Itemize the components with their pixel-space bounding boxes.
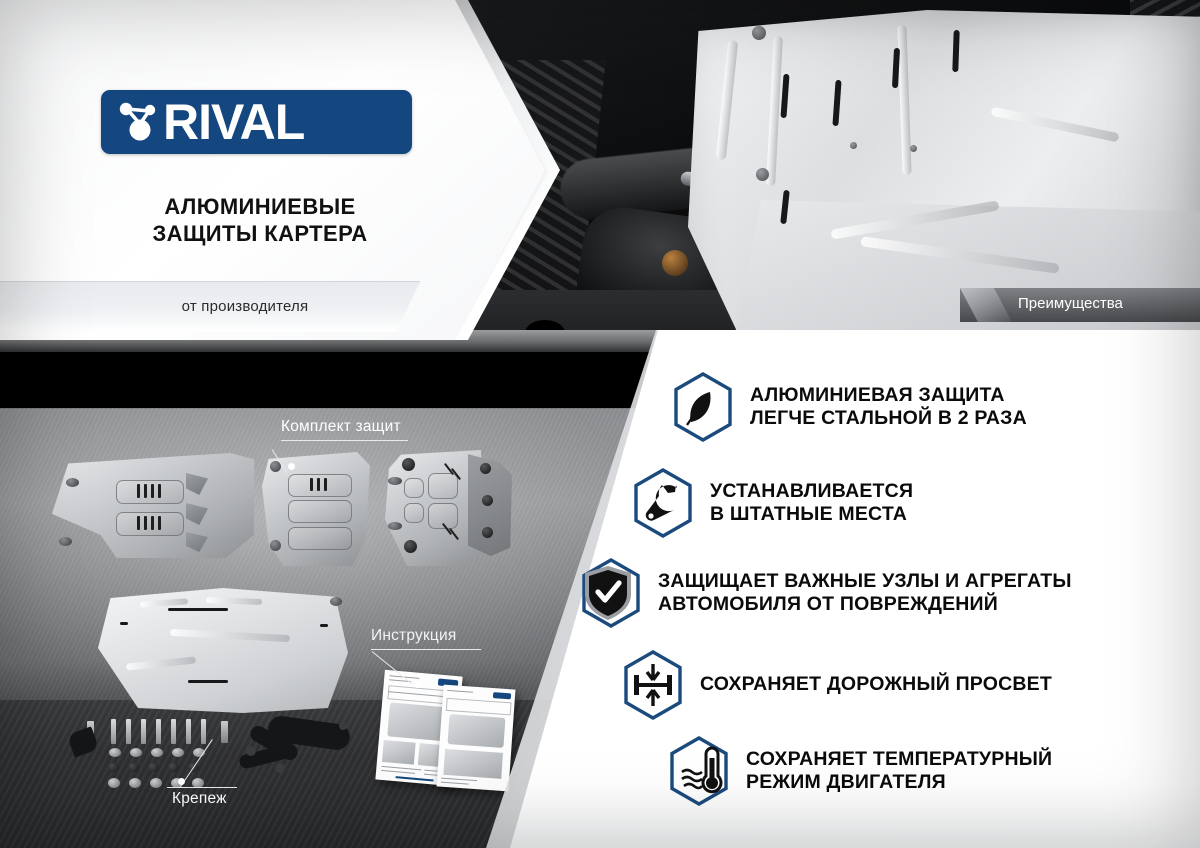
washer: [151, 748, 163, 757]
mount-hole: [66, 478, 79, 487]
callout-underline: [371, 649, 481, 650]
plate-pad: [288, 474, 352, 497]
molecule-icon: [115, 98, 163, 146]
feature-item-protects-components[interactable]: ЗАЩИЩАЕТ ВАЖНЫЕ УЗЛЫ И АГРЕГАТЫ АВТОМОБИ…: [580, 558, 1072, 628]
feature-label: СОХРАНЯЕТ ТЕМПЕРАТУРНЫЙ РЕЖИМ ДВИГАТЕЛЯ: [746, 748, 1052, 795]
plate-slot: [317, 478, 320, 491]
wrench-icon: [632, 468, 694, 538]
manual-photo: [443, 749, 503, 779]
washer: [172, 748, 184, 757]
callout-underline: [167, 787, 237, 788]
flange-hole: [482, 495, 493, 506]
bolt: [141, 719, 146, 744]
feature-item-engine-temperature[interactable]: СОХРАНЯЕТ ТЕМПЕРАТУРНЫЙ РЕЖИМ ДВИГАТЕЛЯ: [668, 736, 1052, 806]
feature-icon-wrap: [672, 372, 734, 442]
plate-pad: [116, 480, 184, 504]
mount-hole: [402, 458, 415, 471]
plate-pad: [288, 500, 352, 523]
plate-slot: [158, 516, 161, 530]
advantages-tab-label: Преимущества: [1018, 295, 1123, 312]
callout-manual-label: Инструкция: [371, 627, 456, 645]
plate-pad: [288, 527, 352, 550]
plate-body: [98, 588, 348, 713]
callout-kit-label: Комплект защит: [281, 418, 401, 436]
callout-dot: [288, 463, 295, 470]
header-panel: RIVAL АЛЮМИНИЕВЫЕ ЗАЩИТЫ КАРТЕРА от прои…: [0, 0, 600, 356]
black-band: [0, 352, 660, 408]
feature-label: СОХРАНЯЕТ ДОРОЖНЫЙ ПРОСВЕТ: [700, 673, 1052, 697]
manual-table: [446, 698, 512, 716]
nut: [168, 763, 179, 772]
bracket-hole: [339, 722, 347, 730]
page-subtitle: от производителя: [95, 298, 395, 315]
nut: [148, 763, 159, 772]
promo-banner: Преимущества RIVAL АЛЮМИНИЕВЫЕ ЗАЩИТЫ КА…: [0, 0, 1200, 848]
manual-footer: [396, 776, 434, 781]
shield-check-icon: [580, 558, 642, 628]
manual-page-back: [437, 685, 516, 792]
plate-slot: [324, 478, 327, 491]
flange-hole: [480, 463, 491, 474]
nut: [128, 763, 139, 772]
plate-slot: [158, 484, 161, 498]
washer: [129, 778, 141, 788]
feature-item-factory-mounts[interactable]: УСТАНАВЛИВАЕТСЯ В ШТАТНЫЕ МЕСТА: [632, 468, 913, 538]
plate-bolt: [752, 26, 766, 40]
thermometer-icon: [668, 736, 730, 806]
mount-hole: [330, 597, 342, 606]
feature-label: ЗАЩИЩАЕТ ВАЖНЫЕ УЗЛЫ И АГРЕГАТЫ АВТОМОБИ…: [658, 570, 1072, 617]
mount-hole: [270, 540, 281, 551]
washer: [108, 778, 120, 788]
plate-slot: [188, 680, 228, 683]
plate-slot: [168, 608, 228, 611]
bolt: [201, 719, 206, 744]
bracket-hole: [246, 746, 256, 756]
rival-logo[interactable]: RIVAL: [101, 90, 412, 154]
manual-diagram: [448, 714, 506, 748]
feature-label: АЛЮМИНИЕВАЯ ЗАЩИТА ЛЕГЧЕ СТАЛЬНОЙ В 2 РА…: [750, 384, 1027, 431]
ball-joint: [662, 250, 688, 276]
mount-hole: [388, 477, 402, 485]
feature-icon-wrap: [632, 468, 694, 538]
callout-dot: [178, 778, 185, 785]
rival-logo-text: RIVAL: [163, 95, 304, 149]
plate-slot: [151, 484, 154, 498]
plate-pad: [428, 473, 458, 499]
plate-bolt: [850, 142, 857, 149]
bolt: [126, 719, 131, 744]
plate-slot: [144, 516, 147, 530]
bracket-strip: [221, 721, 228, 743]
manual-logo: [493, 692, 511, 699]
mount-hole: [388, 522, 402, 530]
page-title-line1: АЛЮМИНИЕВЫЕ: [95, 193, 425, 220]
plate-slot: [310, 478, 313, 491]
mount-hole: [59, 537, 72, 546]
washer: [130, 748, 142, 757]
callout-underline: [281, 440, 408, 441]
page-title-line2: ЗАЩИТЫ КАРТЕРА: [95, 220, 425, 247]
plate-bolt: [756, 168, 769, 181]
bolt: [186, 719, 191, 744]
feature-item-aluminium-weight[interactable]: АЛЮМИНИЕВАЯ ЗАЩИТА ЛЕГЧЕ СТАЛЬНОЙ В 2 РА…: [672, 372, 1027, 442]
plate-pad: [404, 478, 424, 498]
feature-item-ground-clearance[interactable]: СОХРАНЯЕТ ДОРОЖНЫЙ ПРОСВЕТ: [622, 650, 1052, 720]
bolt: [156, 719, 161, 744]
plate-pad: [116, 512, 184, 536]
nut: [108, 763, 119, 772]
callout-dot: [414, 681, 421, 688]
plate-slot: [144, 484, 147, 498]
feature-icon-wrap: [668, 736, 730, 806]
washer: [109, 748, 121, 757]
washer: [150, 778, 162, 788]
page-title: АЛЮМИНИЕВЫЕ ЗАЩИТЫ КАРТЕРА: [95, 193, 425, 247]
plate-slot: [120, 622, 128, 625]
plate-slot: [137, 516, 140, 530]
leaf-icon: [672, 372, 734, 442]
manual-photo: [382, 740, 416, 765]
bolt: [111, 719, 116, 744]
header-shelf-divider: [0, 281, 420, 282]
plate-pad: [404, 503, 424, 523]
bolt: [171, 719, 176, 744]
callout-hardware-label: Крепеж: [172, 790, 227, 808]
bracket-hole: [275, 763, 285, 773]
plate-bolt: [910, 145, 917, 152]
feature-icon-wrap: [580, 558, 642, 628]
flange-hole: [482, 527, 493, 538]
feature-label: УСТАНАВЛИВАЕТСЯ В ШТАТНЫЕ МЕСТА: [710, 480, 913, 527]
plate-slot: [151, 516, 154, 530]
clearance-icon: [622, 650, 684, 720]
mount-hole: [404, 540, 417, 553]
plate-slot: [137, 484, 140, 498]
feature-icon-wrap: [622, 650, 684, 720]
plate-slot: [320, 624, 328, 627]
